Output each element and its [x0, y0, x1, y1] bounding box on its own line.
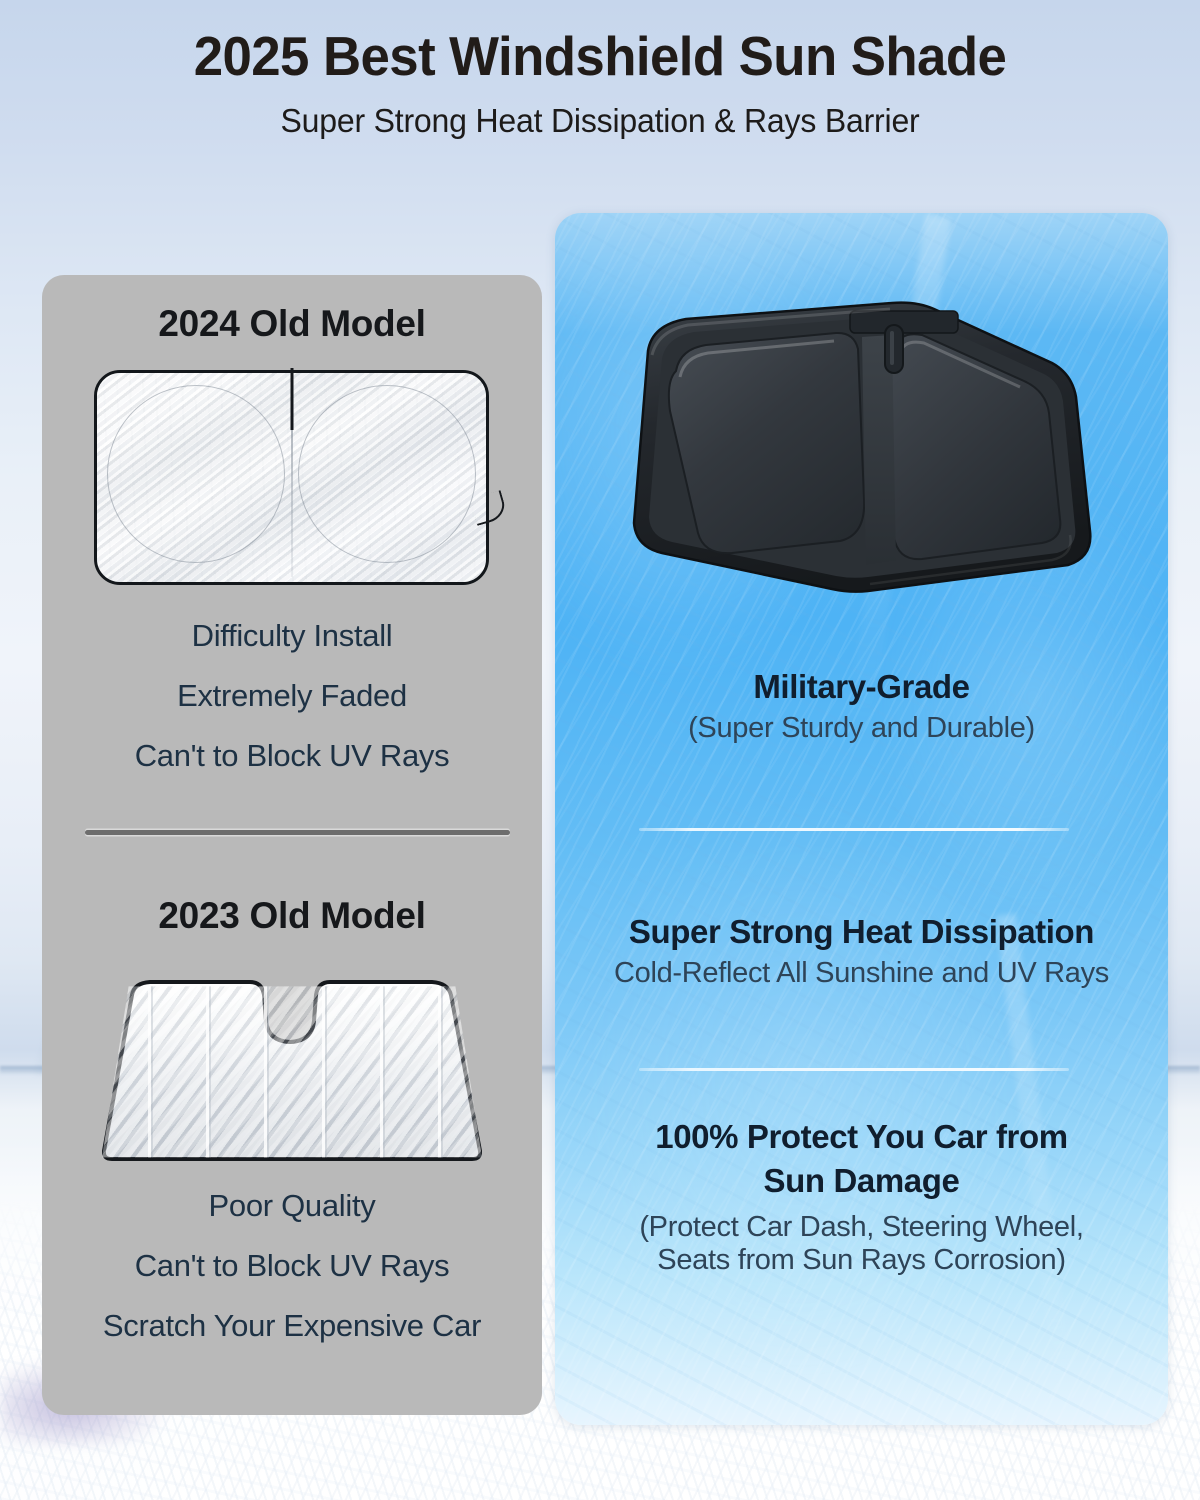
feature-heading: Military-Grade — [581, 668, 1142, 706]
feature-heat-dissipation: Super Strong Heat Dissipation Cold-Refle… — [555, 913, 1168, 991]
feature-divider — [639, 828, 1069, 831]
feature-detail-line1: (Protect Car Dash, Steering Wheel, — [581, 1211, 1142, 1245]
section-divider — [85, 830, 510, 835]
page-subtitle: Super Strong Heat Dissipation & Rays Bar… — [18, 102, 1182, 140]
feature-heading-line2: Sun Damage — [581, 1162, 1142, 1200]
feature-sun-damage-protection: 100% Protect You Car from Sun Damage (Pr… — [555, 1118, 1168, 1278]
header: 2025 Best Windshield Sun Shade Super Str… — [0, 0, 1200, 140]
feature-military-grade: Military-Grade (Super Sturdy and Durable… — [555, 668, 1168, 746]
feature-divider — [639, 1068, 1069, 1071]
con-item: Poor Quality — [42, 1190, 542, 1221]
silver-trapezoid-notched-sunshade-icon — [102, 975, 482, 1165]
old-model-2024-title-wrap: 2024 Old Model — [42, 303, 542, 345]
con-item: Extremely Faded — [42, 680, 542, 711]
page-title: 2025 Best Windshield Sun Shade — [24, 28, 1176, 86]
old-models-panel: 2024 Old Model Difficulty Install Extrem… — [42, 275, 542, 1415]
con-item: Can't to Block UV Rays — [42, 740, 542, 771]
old-model-2023-title: 2023 Old Model — [42, 895, 542, 937]
feature-detail-line2: Seats from Sun Rays Corrosion) — [581, 1244, 1142, 1278]
old-model-2023-title-wrap: 2023 Old Model — [42, 895, 542, 937]
old-model-2024-title: 2024 Old Model — [42, 303, 542, 345]
con-item: Difficulty Install — [42, 620, 542, 651]
silver-crinkled-rectangular-sunshade-icon — [94, 370, 489, 585]
feature-heading-line1: 100% Protect You Car from — [581, 1118, 1142, 1156]
con-item: Can't to Block UV Rays — [42, 1250, 542, 1281]
feature-detail: Cold-Reflect All Sunshine and UV Rays — [581, 957, 1142, 991]
old-model-2023-cons: Poor Quality Can't to Block UV Rays Scra… — [42, 1190, 542, 1370]
con-item: Scratch Your Expensive Car — [42, 1310, 542, 1341]
old-model-2024-cons: Difficulty Install Extremely Faded Can't… — [42, 620, 542, 800]
feature-heading: Super Strong Heat Dissipation — [581, 913, 1142, 951]
feature-detail: (Super Sturdy and Durable) — [581, 712, 1142, 746]
new-model-panel: Military-Grade (Super Sturdy and Durable… — [555, 213, 1168, 1425]
black-dual-panel-sunshade-icon — [600, 285, 1125, 605]
